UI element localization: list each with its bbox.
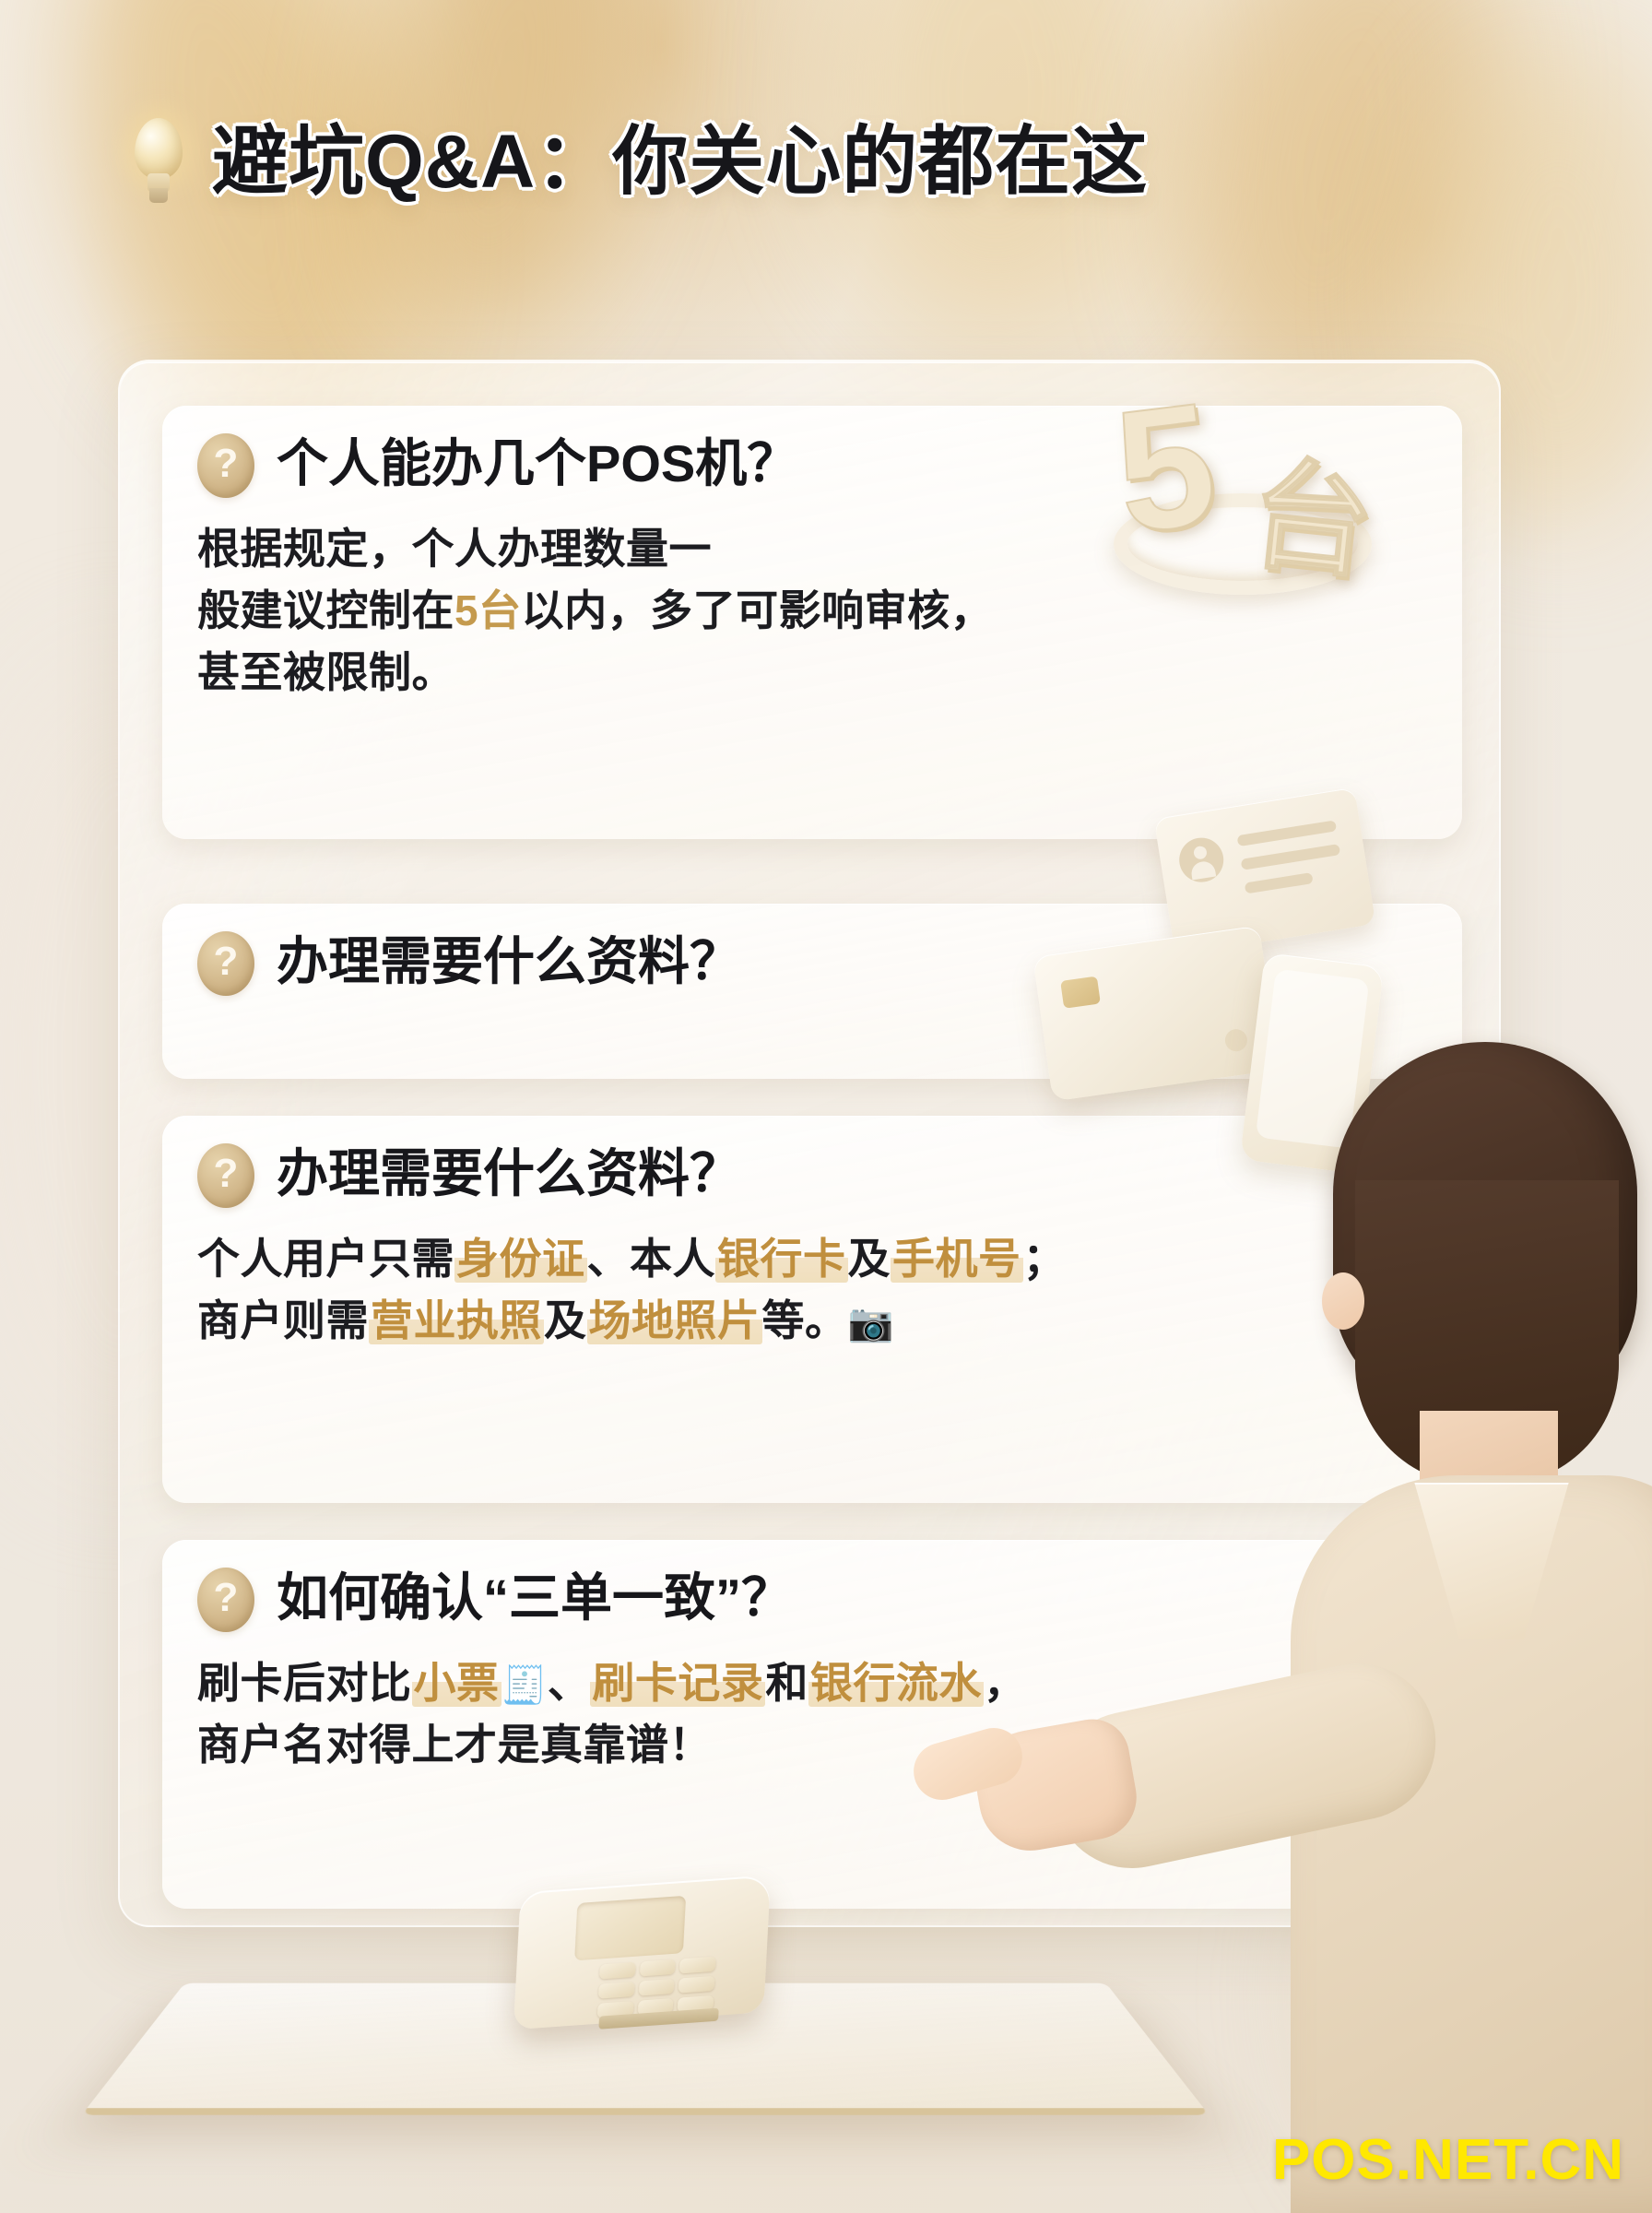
question-text: 办理需要什么资料？	[273, 1143, 750, 1208]
question-text: 办理需要什么资料？	[273, 931, 750, 996]
answer-highlight: 营业执照	[369, 1296, 544, 1344]
ear	[1322, 1272, 1364, 1330]
question-row: ? 如何确认“三单一致”？	[197, 1568, 1422, 1632]
question-row: ? 个人能办几个POS机？	[197, 433, 1422, 498]
watermark: POS.NET.CN	[1272, 2132, 1624, 2189]
question-text: 个人能办几个POS机？	[273, 433, 808, 498]
person-3d-figure	[1281, 1042, 1652, 2213]
answer-text: 根据规定，个人办理数量一般建议控制在5台以内，多了可影响审核，甚至被限制。	[197, 518, 1422, 704]
answer-highlight: 手机号	[891, 1235, 1023, 1283]
answer-highlight: 5台	[454, 586, 522, 634]
answer-highlight: 刷卡记录	[590, 1659, 765, 1707]
answer-highlight: 小票	[412, 1659, 501, 1707]
page-header: 避坑Q&A：你关心的都在这	[129, 111, 1530, 214]
answer-highlight: 场地照片	[587, 1296, 762, 1344]
hair	[1333, 1042, 1637, 1411]
qa-card-materials-header[interactable]: ? 办理需要什么资料？	[162, 904, 1462, 1079]
question-row: ? 办理需要什么资料？	[197, 1143, 1422, 1208]
lightbulb-icon	[129, 118, 188, 207]
camera-icon: 📷	[848, 1303, 894, 1343]
page-title: 避坑Q&A：你关心的都在这	[212, 124, 1148, 200]
question-mark-icon: ?	[197, 1568, 254, 1632]
question-text: 如何确认“三单一致”？	[273, 1568, 802, 1632]
pos-screen	[574, 1896, 686, 1961]
pos-terminal-3d	[511, 1849, 781, 2041]
question-mark-icon: ?	[197, 931, 254, 996]
receipt-icon: 🧾	[501, 1665, 548, 1706]
answer-highlight: 银行卡	[715, 1235, 848, 1283]
answer-highlight: 身份证	[454, 1235, 587, 1283]
answer-highlight: 银行流水	[808, 1659, 984, 1707]
answer-text: 个人用户只需身份证、本人银行卡及手机号； 商户则需营业执照及场地照片等。📷	[197, 1228, 1422, 1352]
question-mark-icon: ?	[197, 1143, 254, 1208]
qa-card-materials[interactable]: ? 办理需要什么资料？ 个人用户只需身份证、本人银行卡及手机号； 商户则需营业执…	[162, 1116, 1462, 1503]
question-row: ? 办理需要什么资料？	[197, 931, 1422, 996]
question-mark-icon: ?	[197, 433, 254, 498]
qa-card-pos-count[interactable]: ? 个人能办几个POS机？ 根据规定，个人办理数量一般建议控制在5台以内，多了可…	[162, 406, 1462, 839]
